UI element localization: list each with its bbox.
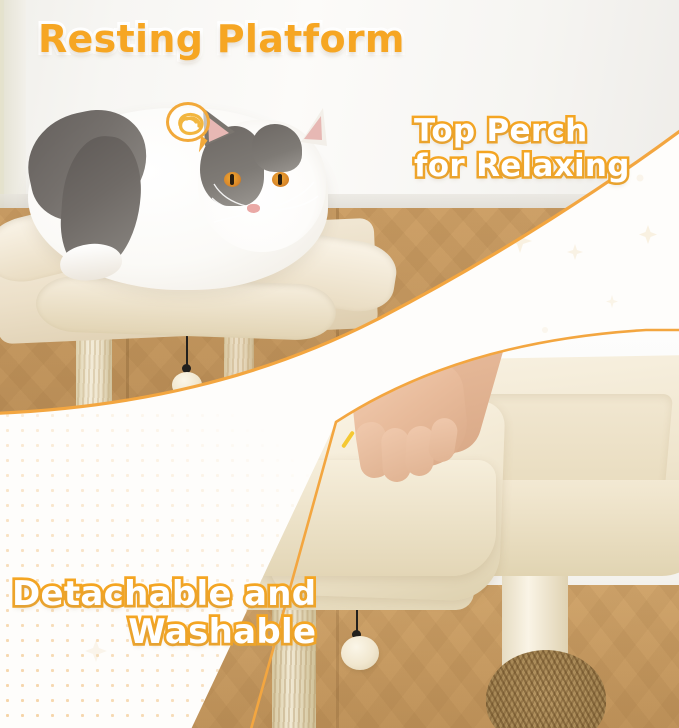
heading-resting-platform: Resting Platform bbox=[38, 18, 405, 61]
heading-top-perch: Top Perch for Relaxing bbox=[414, 114, 630, 183]
heading-detachable-washable: Detachable and Washable bbox=[12, 575, 316, 651]
pompom-ball bbox=[341, 636, 379, 670]
bubble-scribble-icon bbox=[167, 103, 215, 147]
cat-whiskers bbox=[212, 180, 342, 240]
product-feature-image: Resting Platform Top Perch for Relaxing … bbox=[0, 0, 679, 728]
